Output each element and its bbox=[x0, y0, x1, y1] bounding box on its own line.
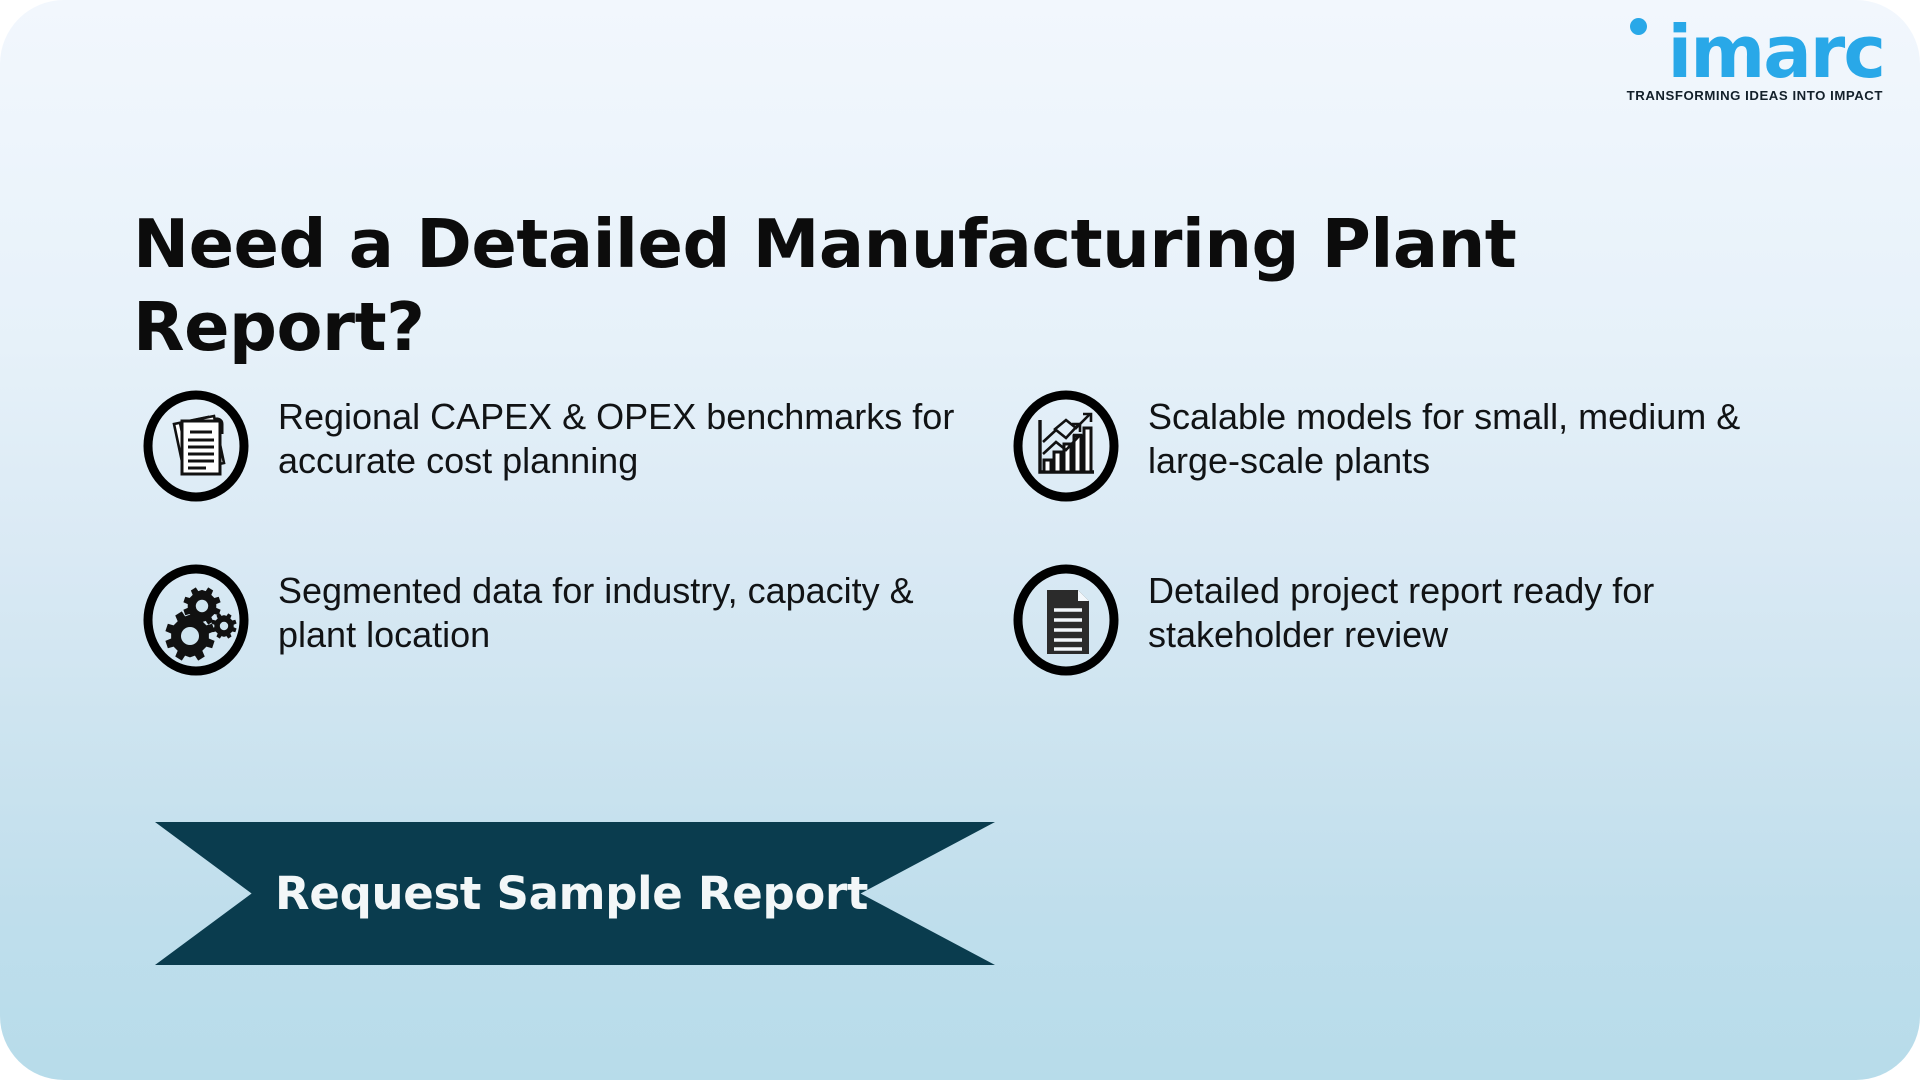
documents-stack-icon bbox=[140, 390, 252, 502]
page-title: Need a Detailed Manufacturing Plant Repo… bbox=[133, 203, 1633, 369]
feature-list: Regional CAPEX & OPEX benchmarks for acc… bbox=[140, 388, 1800, 676]
promo-banner: imarc TRANSFORMING IDEAS INTO IMPACT Nee… bbox=[0, 0, 1920, 1080]
feature-label: Segmented data for industry, capacity & … bbox=[278, 562, 978, 657]
request-sample-report-button[interactable]: Request Sample Report bbox=[155, 822, 995, 965]
cta-label: Request Sample Report bbox=[155, 867, 868, 920]
feature-label: Scalable models for small, medium & larg… bbox=[1148, 388, 1800, 483]
feature-item-capex-opex: Regional CAPEX & OPEX benchmarks for acc… bbox=[140, 388, 1010, 502]
cta-ribbon[interactable]: Request Sample Report bbox=[155, 822, 995, 965]
logo-text: imarc bbox=[1668, 10, 1884, 94]
feature-label: Detailed project report ready for stakeh… bbox=[1148, 562, 1800, 657]
feature-label: Regional CAPEX & OPEX benchmarks for acc… bbox=[278, 388, 978, 483]
feature-item-project-report: Detailed project report ready for stakeh… bbox=[1010, 562, 1800, 676]
growth-bar-chart-icon bbox=[1010, 390, 1122, 502]
gears-icon bbox=[140, 564, 252, 676]
logo-wordmark: imarc bbox=[1616, 14, 1886, 90]
logo-dot-icon bbox=[1630, 18, 1647, 35]
feature-item-segmented-data: Segmented data for industry, capacity & … bbox=[140, 562, 1010, 676]
imarc-logo: imarc TRANSFORMING IDEAS INTO IMPACT bbox=[1616, 14, 1886, 103]
feature-item-scalable-models: Scalable models for small, medium & larg… bbox=[1010, 388, 1800, 502]
document-report-icon bbox=[1010, 564, 1122, 676]
